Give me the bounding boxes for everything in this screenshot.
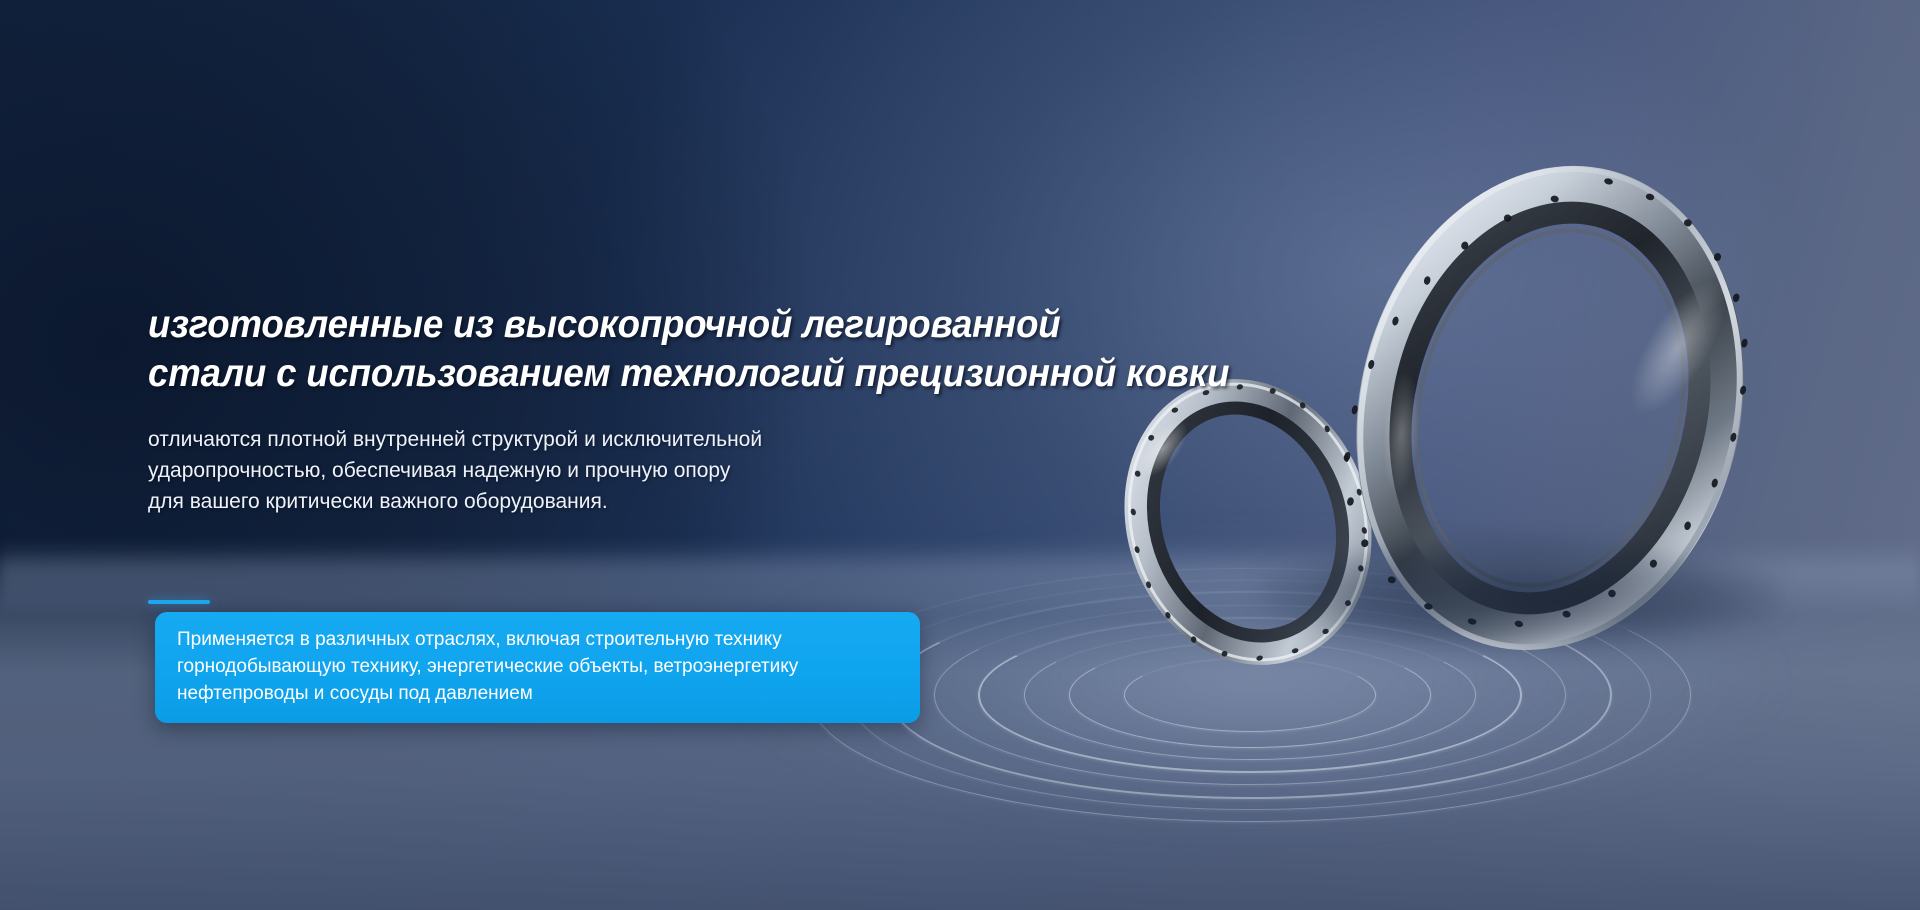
accent-divider: [148, 600, 210, 604]
forged-ring-product-image: [1080, 150, 1860, 710]
callout-line-2: горнодобывающую технику, энергетические …: [177, 653, 898, 680]
callout-line-1: Применяется в различных отраслях, включа…: [177, 626, 898, 653]
headline-line-2: стали с использованием технологий прециз…: [148, 349, 919, 398]
subcopy-line-1: отличаются плотной внутренней структурой…: [148, 424, 968, 455]
applications-callout: Применяется в различных отраслях, включа…: [155, 612, 920, 723]
ring-contact-shadow: [1260, 540, 1780, 650]
hero-subcopy: отличаются плотной внутренней структурой…: [148, 424, 968, 517]
subcopy-line-2: ударопрочностью, обеспечивая надежную и …: [148, 455, 968, 486]
hero-banner: изготовленные из высокопрочной легирован…: [0, 0, 1920, 910]
callout-line-3: нефтепроводы и сосуды под давлением: [177, 680, 898, 707]
subcopy-line-3: для вашего критически важного оборудован…: [148, 486, 968, 517]
hero-text-block: изготовленные из высокопрочной легирован…: [148, 300, 968, 517]
page-title: изготовленные из высокопрочной легирован…: [148, 300, 919, 398]
headline-line-1: изготовленные из высокопрочной легирован…: [148, 300, 919, 349]
